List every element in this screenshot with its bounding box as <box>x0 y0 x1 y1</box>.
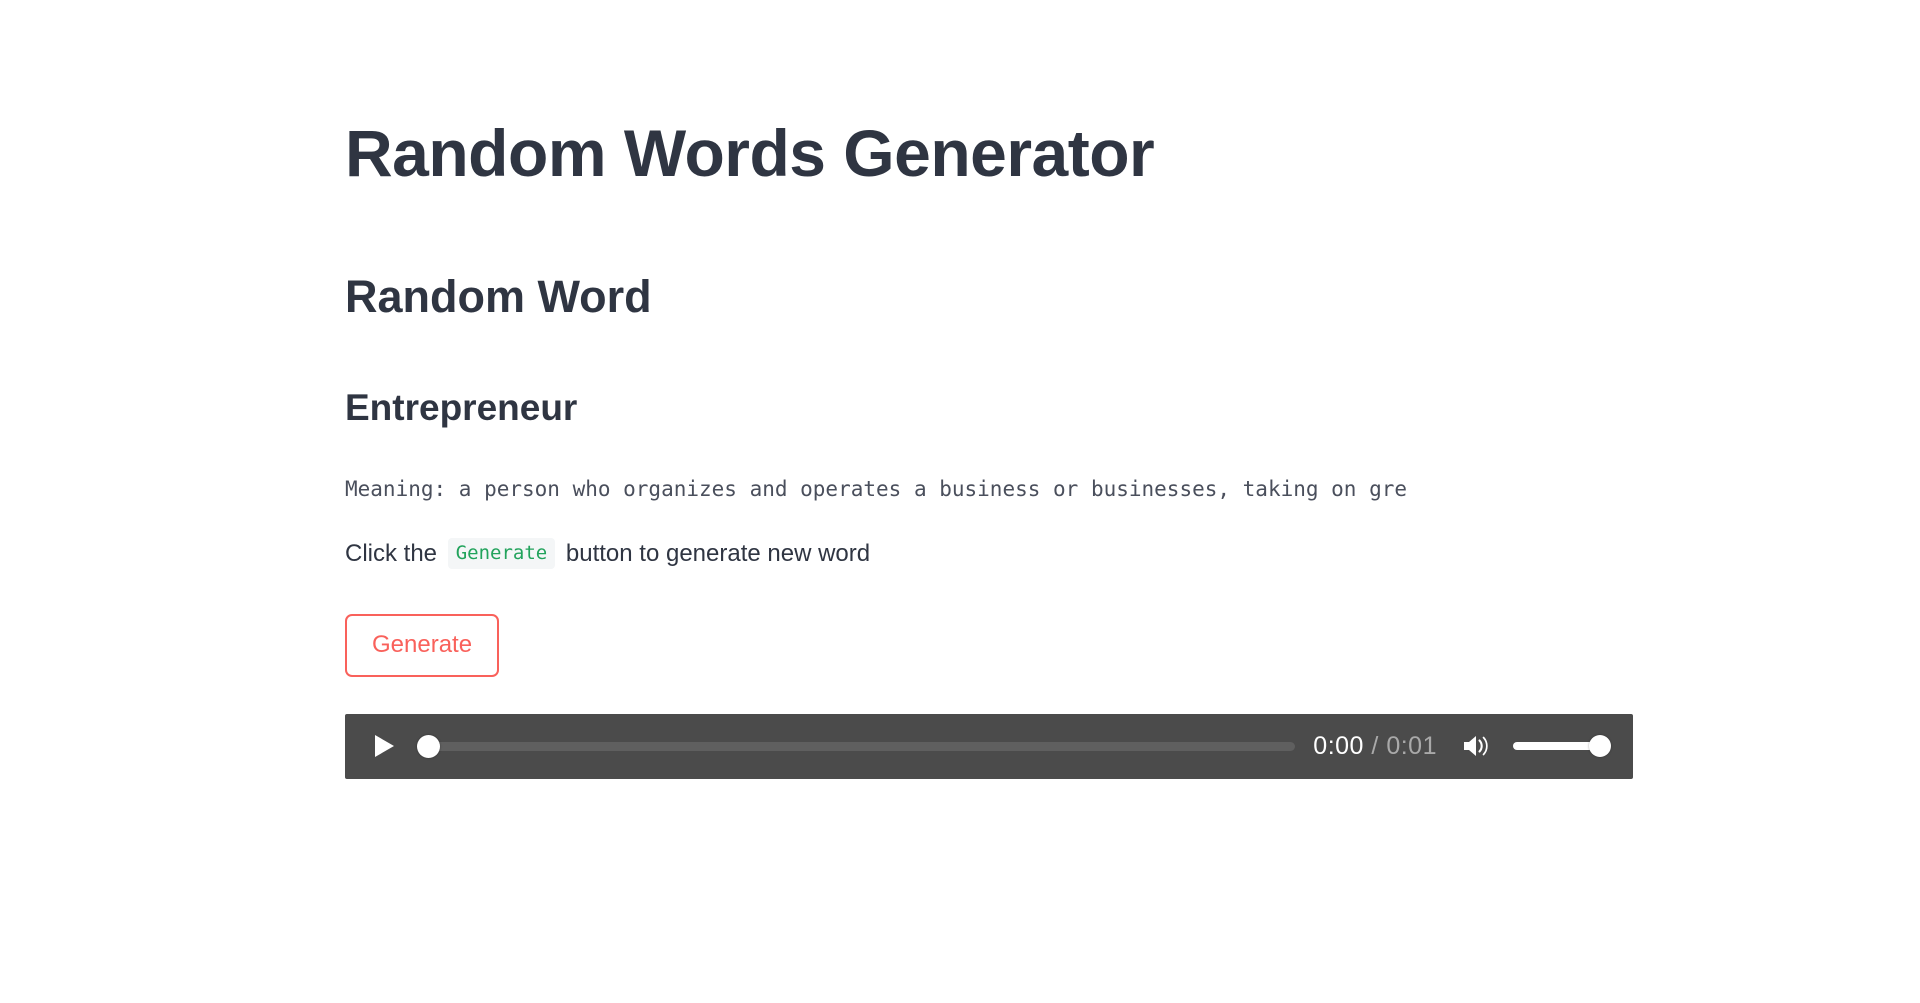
volume-slider[interactable] <box>1513 731 1611 761</box>
audio-time-display: 0:00 / 0:01 <box>1313 732 1437 761</box>
audio-progress-handle[interactable] <box>417 735 440 758</box>
audio-current-time: 0:00 <box>1313 732 1364 760</box>
generate-button[interactable]: Generate <box>345 614 499 677</box>
page-title: Random Words Generator <box>345 116 1920 192</box>
audio-player[interactable]: 0:00 / 0:01 <box>345 714 1633 779</box>
hint-text-before: Click the <box>345 540 437 567</box>
play-icon <box>375 735 394 757</box>
word-meaning: Meaning: a person who organizes and oper… <box>345 430 1920 504</box>
audio-duration: 0:01 <box>1386 732 1437 760</box>
audio-progress-slider[interactable] <box>417 731 1295 761</box>
volume-track <box>1513 742 1601 750</box>
hint-text: Click the Generate button to generate ne… <box>345 505 1920 572</box>
content-container: Random Words Generator Random Word Entre… <box>345 0 1920 779</box>
generated-word: Entrepreneur <box>345 324 1920 430</box>
hint-text-after: button to generate new word <box>566 540 870 567</box>
page-root: Random Words Generator Random Word Entre… <box>0 0 1920 1003</box>
audio-player-container: 0:00 / 0:01 <box>345 677 1920 779</box>
volume-handle[interactable] <box>1589 735 1611 757</box>
generate-button-container: Generate <box>345 572 1920 677</box>
audio-time-separator: / <box>1371 732 1378 760</box>
volume-button[interactable] <box>1459 731 1493 761</box>
inline-code-generate: Generate <box>448 538 556 569</box>
volume-high-icon <box>1461 733 1491 759</box>
play-button[interactable] <box>368 731 398 761</box>
audio-progress-track <box>429 742 1295 751</box>
section-heading-random-word: Random Word <box>345 192 1920 324</box>
